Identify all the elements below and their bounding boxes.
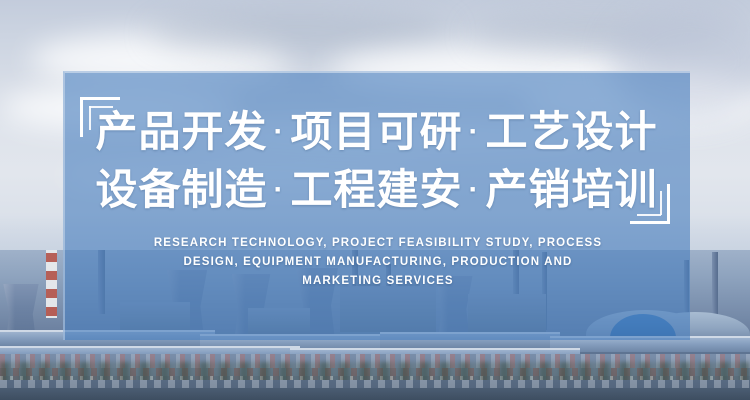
foreground-band (0, 388, 750, 400)
headline-term: 工程建安 (290, 166, 462, 213)
headline: 产品开发·项目可研·工艺设计 设备制造·工程建安·产销培训 (63, 103, 690, 219)
headline-separator: · (267, 115, 290, 148)
headline-term: 项目可研 (290, 108, 462, 155)
headline-separator: · (267, 173, 290, 206)
subtitle-line: DESIGN, EQUIPMENT MANUFACTURING, PRODUCT… (138, 253, 618, 272)
headline-term: 设备制造 (95, 166, 267, 213)
striped-chimney (46, 250, 57, 318)
industrial-services-banner: 产品开发·项目可研·工艺设计 设备制造·工程建安·产销培训 RESEARCH T… (0, 0, 750, 400)
subtitle-line: RESEARCH TECHNOLOGY, PROJECT FEASIBILITY… (138, 234, 618, 253)
headline-term: 工艺设计 (486, 108, 658, 155)
headline-line-2: 设备制造·工程建安·产销培训 (63, 161, 690, 219)
subtitle: RESEARCH TECHNOLOGY, PROJECT FEASIBILITY… (138, 234, 618, 291)
headline-term: 产品开发 (95, 108, 267, 155)
subtitle-line: MARKETING SERVICES (138, 272, 618, 291)
headline-line-1: 产品开发·项目可研·工艺设计 (63, 103, 690, 161)
smokestack (712, 252, 718, 322)
headline-separator: · (463, 115, 486, 148)
headline-separator: · (463, 173, 486, 206)
headline-term: 产销培训 (486, 166, 658, 213)
